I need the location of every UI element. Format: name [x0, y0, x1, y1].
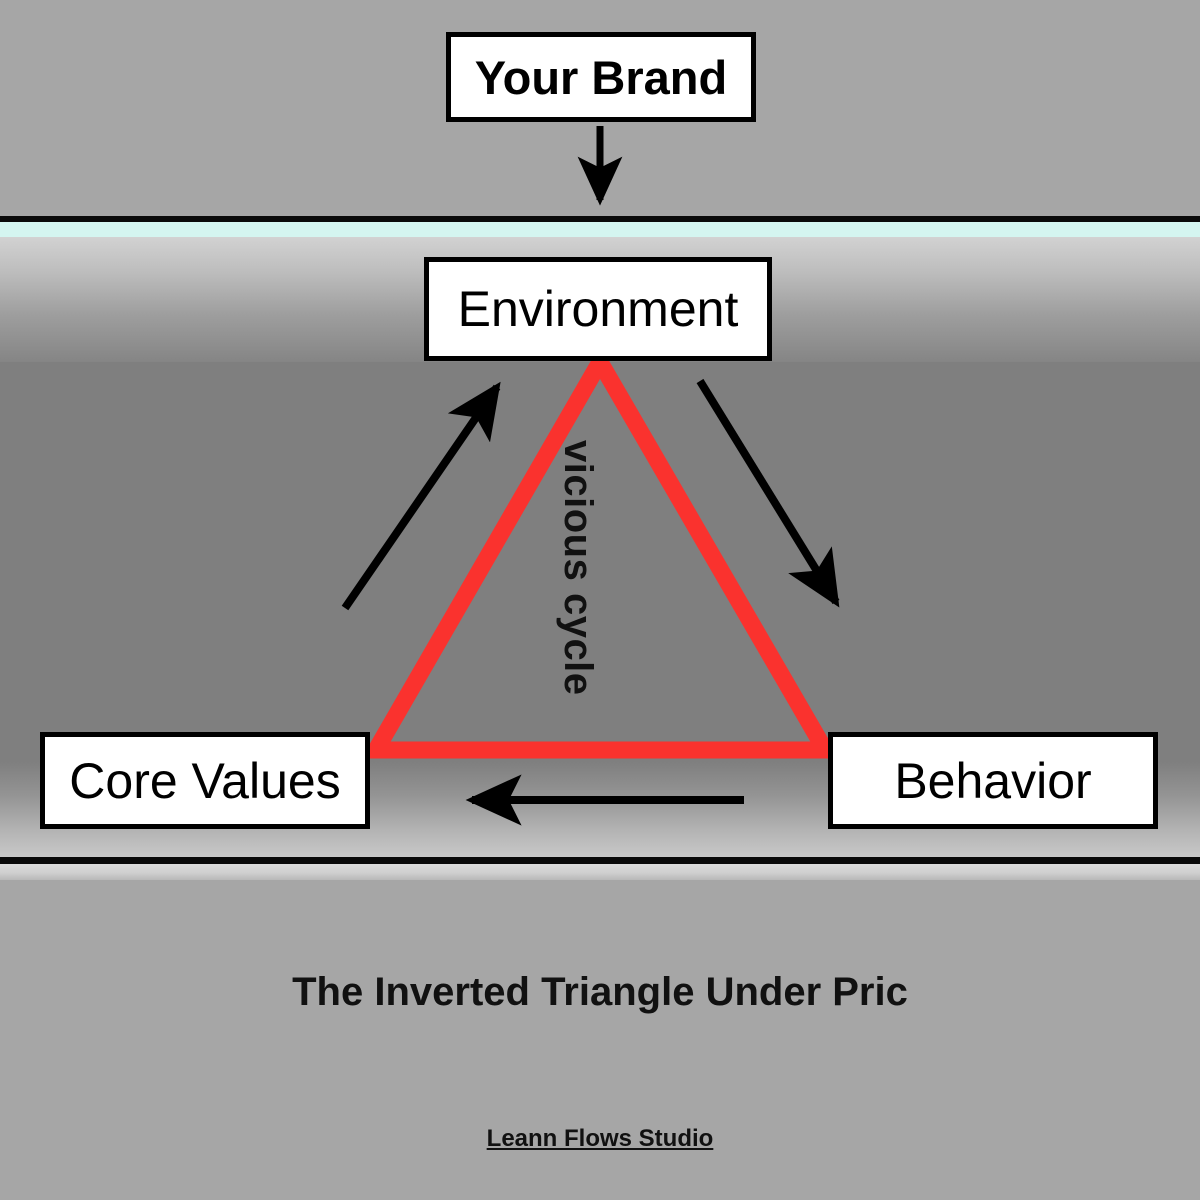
vicious-cycle-label: vicious cycle — [555, 440, 600, 696]
node-core-values[interactable]: Core Values — [40, 732, 370, 829]
node-environment[interactable]: Environment — [424, 257, 772, 361]
node-behavior-label: Behavior — [894, 752, 1091, 810]
studio-credit: Leann Flows Studio — [0, 1125, 1200, 1153]
band-core-fill — [0, 362, 1200, 762]
diagram-canvas: Your Brand Environment Core Values Behav… — [0, 0, 1200, 1200]
node-your-brand[interactable]: Your Brand — [446, 32, 756, 122]
diagram-title: The Inverted Triangle Under Pric — [0, 970, 1200, 1015]
node-your-brand-label: Your Brand — [475, 50, 727, 105]
band-cyan-highlight — [0, 222, 1200, 237]
node-core-values-label: Core Values — [69, 752, 340, 810]
band-bottom-glow — [0, 864, 1200, 880]
node-behavior[interactable]: Behavior — [828, 732, 1158, 829]
band-bottom-rule — [0, 857, 1200, 864]
node-environment-label: Environment — [458, 280, 739, 338]
